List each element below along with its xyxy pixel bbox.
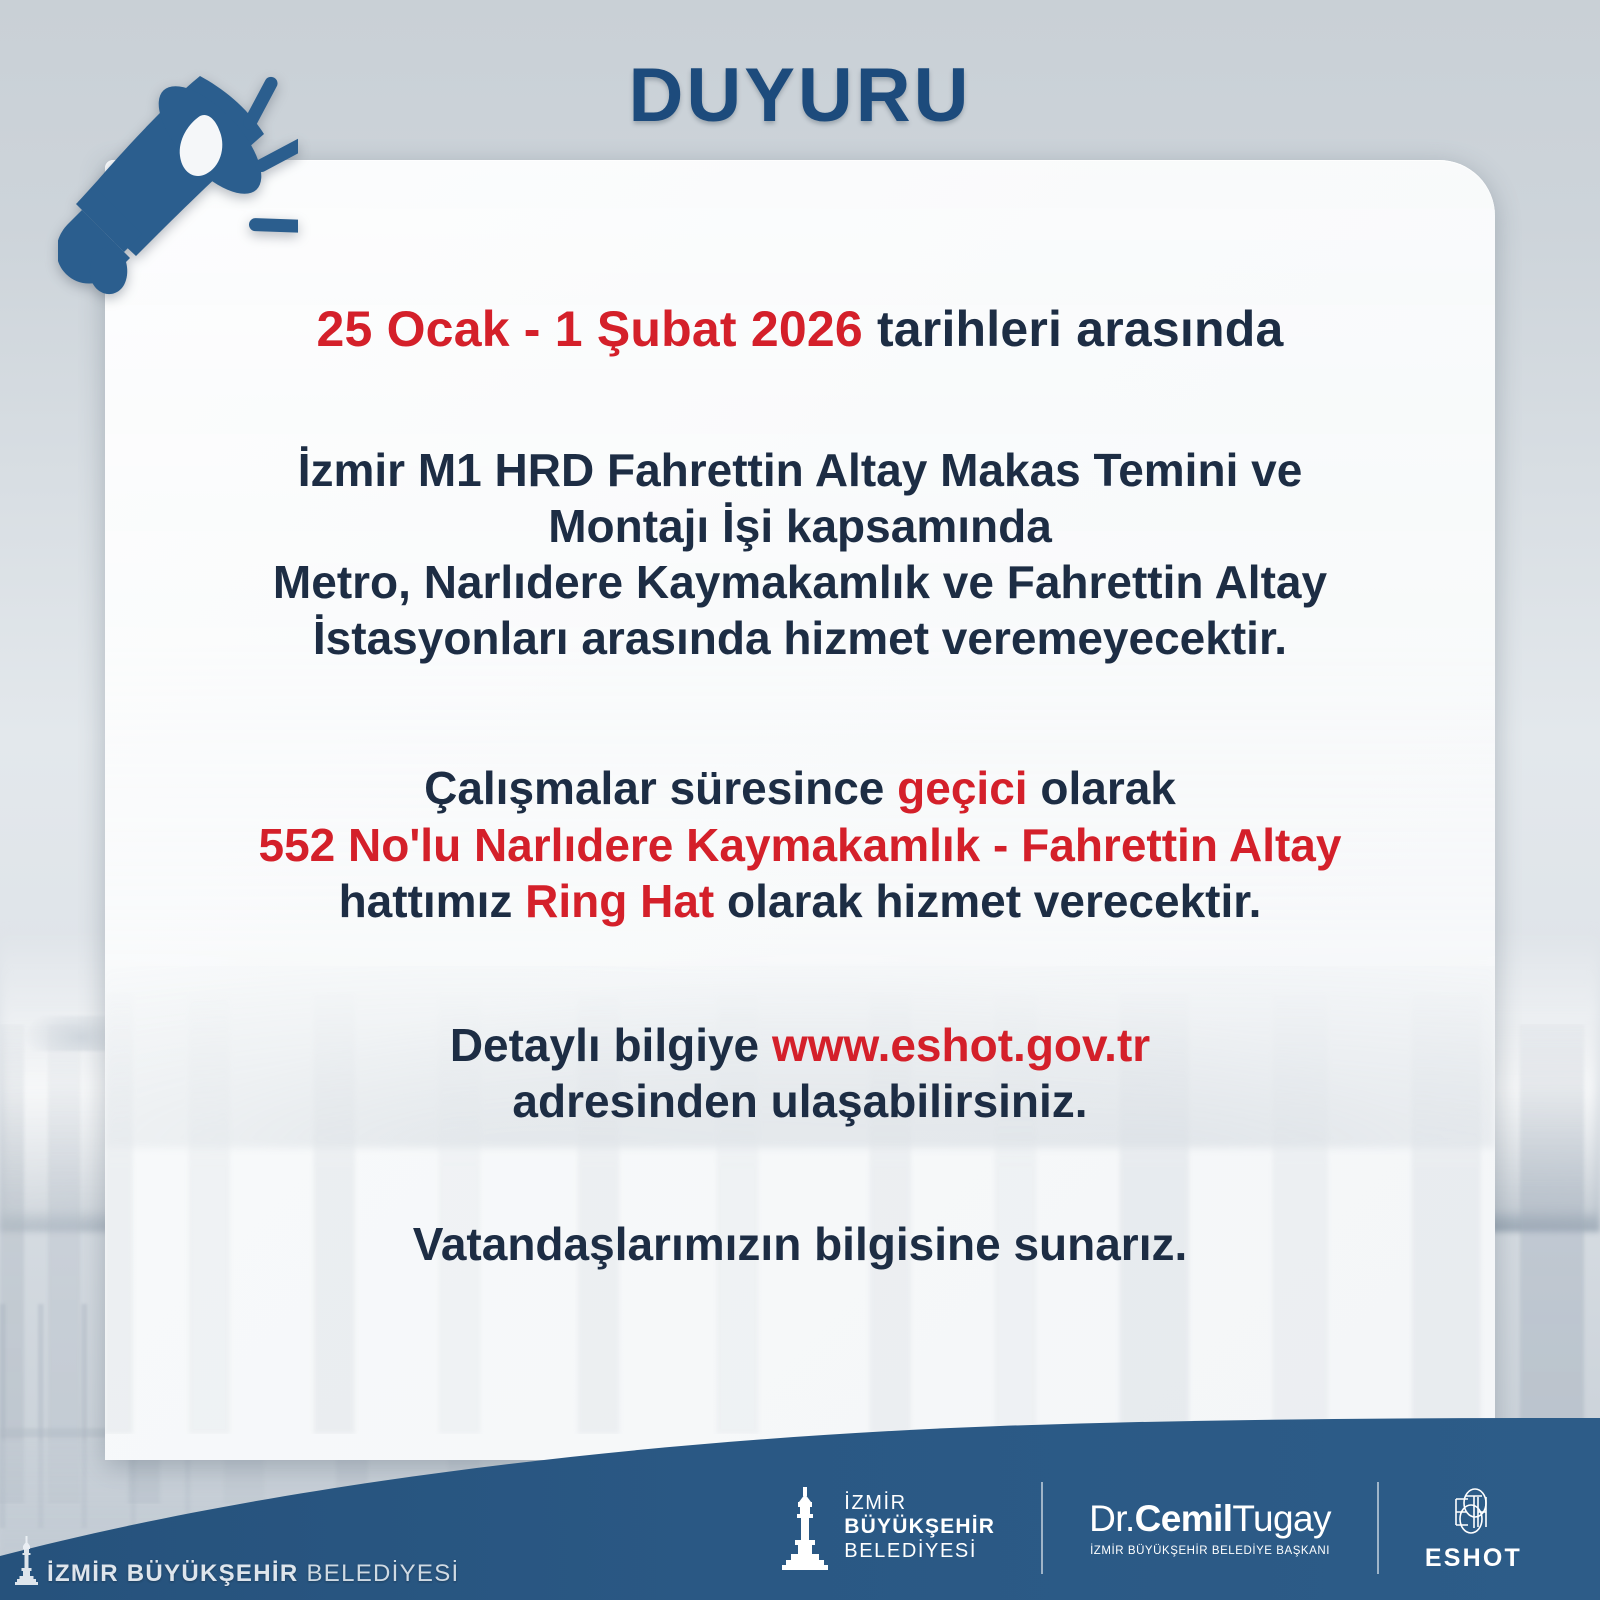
mayor-title: Dr. <box>1089 1498 1134 1539</box>
date-range: 25 Ocak - 1 Şubat 2026 <box>316 301 862 357</box>
footer-divider-1 <box>1041 1482 1043 1574</box>
megaphone-icon <box>58 62 298 297</box>
service-notice: İzmir M1 HRD Fahrettin Altay Makas Temin… <box>105 442 1495 666</box>
website-url[interactable]: www.eshot.gov.tr <box>772 1019 1150 1071</box>
temp-prefix: Çalışmalar süresince <box>424 762 897 814</box>
website-notice: Detaylı bilgiye www.eshot.gov.tr adresin… <box>105 1017 1495 1129</box>
announcement-poster: DUYURU 25 Ocak - 1 Şubat 2026 tarihleri … <box>0 0 1600 1600</box>
closing-line: Vatandaşlarımızın bilgisine sunarız. <box>105 1217 1495 1271</box>
eshot-label: ESHOT <box>1425 1544 1522 1573</box>
eshot-logo: ESHOT <box>1425 1483 1522 1573</box>
footer-divider-2 <box>1377 1482 1379 1574</box>
watermark-text: İZMİR BÜYÜKŞEHİR BELEDİYESİ <box>47 1560 460 1588</box>
municipality-line-2: BÜYÜKŞEHİR <box>844 1515 995 1539</box>
municipality-line-3: BELEDİYESİ <box>844 1540 995 1563</box>
website-line-1: Detaylı bilgiye www.eshot.gov.tr <box>105 1017 1495 1073</box>
ring-suffix: olarak hizmet verecektir. <box>714 875 1261 927</box>
municipality-line-1: İZMİR <box>844 1492 995 1515</box>
date-line: 25 Ocak - 1 Şubat 2026 tarihleri arasınd… <box>105 300 1495 358</box>
temporary-route-notice: Çalışmalar süresince geçici olarak 552 N… <box>105 760 1495 928</box>
temp-line-3: hattımız Ring Hat olarak hizmet verecekt… <box>105 873 1495 929</box>
municipality-text: İZMİR BÜYÜKŞEHİR BELEDİYESİ <box>844 1492 995 1563</box>
notice-line-3: Metro, Narlıdere Kaymakamlık ve Fahretti… <box>105 554 1495 610</box>
date-suffix: tarihleri arasında <box>863 301 1284 357</box>
clock-tower-icon <box>14 1536 40 1588</box>
temp-suffix: olarak <box>1028 762 1176 814</box>
watermark-light: BELEDİYESİ <box>298 1560 459 1587</box>
eshot-monogram-icon <box>1442 1483 1504 1541</box>
announcement-body: 25 Ocak - 1 Şubat 2026 tarihleri arasınd… <box>105 300 1495 1309</box>
mayor-logo: Dr.CemilTugay İZMİR BÜYÜKŞEHİR BELEDİYE … <box>1089 1498 1331 1557</box>
route-name: 552 No'lu Narlıdere Kaymakamlık - Fahret… <box>105 817 1495 873</box>
ring-hat-highlight: Ring Hat <box>525 875 714 927</box>
mayor-name: Dr.CemilTugay <box>1089 1498 1331 1540</box>
notice-line-4: İstasyonları arasında hizmet veremeyecek… <box>105 610 1495 666</box>
temp-line-1: Çalışmalar süresince geçici olarak <box>105 760 1495 816</box>
temp-highlight: geçici <box>897 762 1027 814</box>
notice-line-1: İzmir M1 HRD Fahrettin Altay Makas Temin… <box>105 442 1495 498</box>
mayor-first-name: Cemil <box>1135 1498 1233 1539</box>
izmir-municipality-logo: İZMİR BÜYÜKŞEHİR BELEDİYESİ <box>780 1485 995 1571</box>
website-prefix: Detaylı bilgiye <box>450 1019 772 1071</box>
mayor-subtitle: İZMİR BÜYÜKŞEHİR BELEDİYE BAŞKANI <box>1090 1545 1330 1557</box>
mayor-last-name: Tugay <box>1232 1498 1330 1539</box>
clock-tower-icon <box>780 1485 830 1571</box>
notice-line-2: Montajı İşi kapsamında <box>105 498 1495 554</box>
website-line-2: adresinden ulaşabilirsiniz. <box>105 1073 1495 1129</box>
watermark-bold: İZMİR BÜYÜKŞEHİR <box>47 1560 298 1587</box>
watermark: İZMİR BÜYÜKŞEHİR BELEDİYESİ <box>14 1536 460 1588</box>
ring-prefix: hattımız <box>339 875 526 927</box>
